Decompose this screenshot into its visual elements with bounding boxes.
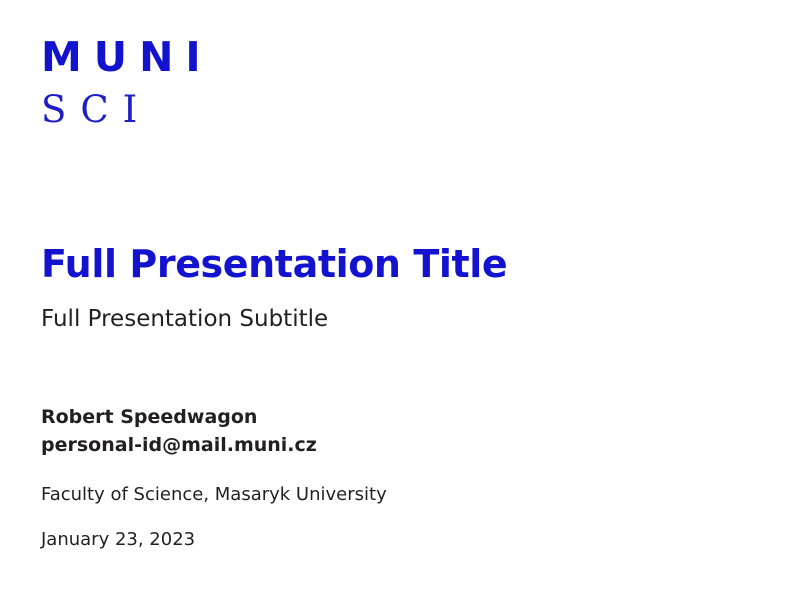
author-affiliation: Faculty of Science, Masaryk University: [41, 484, 387, 507]
logo-text-muni: MUNI: [41, 36, 213, 79]
logo-text-sci: SCI: [41, 91, 213, 130]
presentation-date: January 23, 2023: [41, 529, 195, 552]
presentation-title: Full Presentation Title: [41, 243, 507, 286]
author-email: personal-id@mail.muni.cz: [41, 434, 317, 458]
muni-sci-logo: MUNI SCI: [41, 36, 213, 130]
title-slide: MUNI SCI Full Presentation Title Full Pr…: [0, 0, 794, 596]
presentation-subtitle: Full Presentation Subtitle: [41, 306, 328, 334]
author-name: Robert Speedwagon: [41, 406, 257, 430]
